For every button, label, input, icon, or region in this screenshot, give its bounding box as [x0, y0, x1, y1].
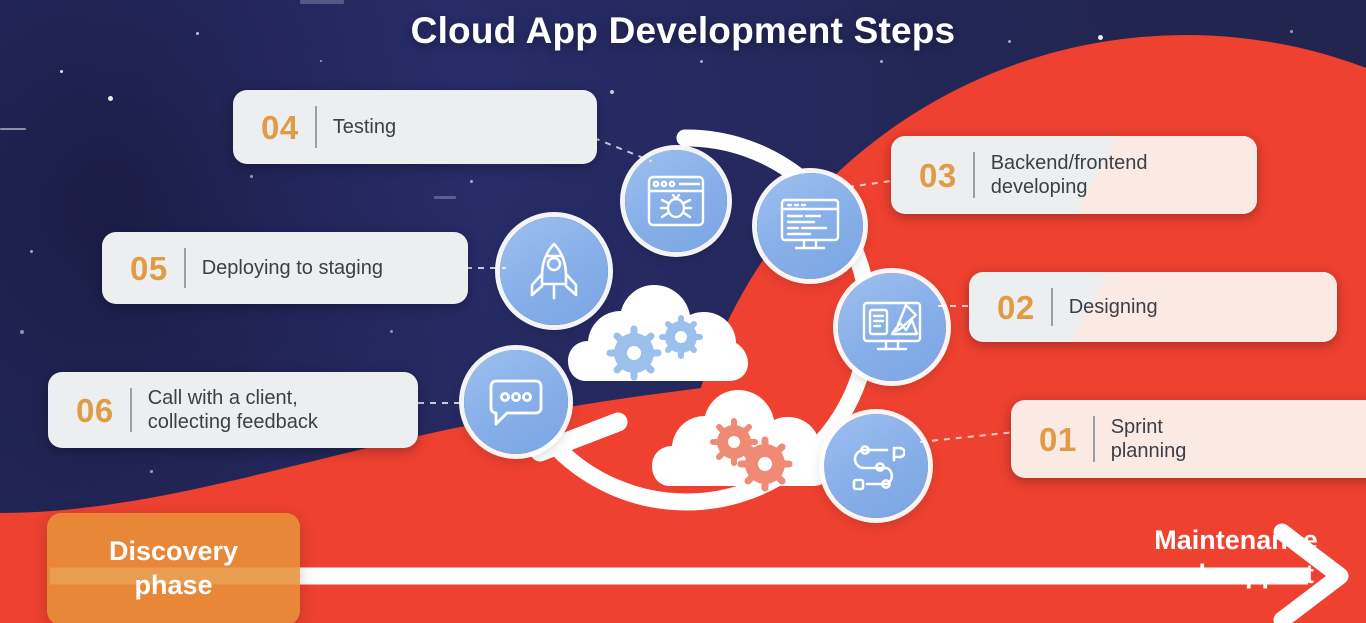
connector-05: [466, 267, 506, 269]
connector-06: [418, 402, 466, 404]
step-label-02: Designing: [1053, 295, 1178, 319]
step-label-06: Call with a client, collecting feedback: [132, 386, 338, 435]
node-rocket[interactable]: [500, 217, 608, 325]
step-label-03: Backend/frontend developing: [975, 151, 1168, 200]
node-developing[interactable]: [757, 173, 863, 279]
step-number-05: 05: [102, 252, 184, 285]
maintenance-support-label: Maintenance and support: [1106, 523, 1366, 592]
node-feedback[interactable]: [464, 350, 568, 454]
step-label-05: Deploying to staging: [186, 256, 403, 280]
step-number-01: 01: [1011, 423, 1093, 456]
chat-bubble-icon: [487, 377, 545, 427]
step-card-02[interactable]: 02 Designing: [969, 272, 1337, 342]
node-sprint-planning[interactable]: [824, 414, 928, 518]
code-monitor-icon: [780, 198, 840, 254]
cloud-with-coral-gears: [652, 390, 832, 492]
step-card-05[interactable]: 05 Deploying to staging: [102, 232, 468, 304]
step-number-02: 02: [969, 291, 1051, 324]
infographic-canvas: Cloud App Development Steps: [0, 0, 1366, 623]
roadmap-icon: [847, 440, 905, 492]
rocket-icon: [528, 242, 580, 300]
node-testing[interactable]: [625, 150, 727, 252]
step-label-01: Sprint planning: [1095, 415, 1207, 464]
discovery-phase-badge[interactable]: Discovery phase: [47, 513, 300, 623]
page-title: Cloud App Development Steps: [0, 10, 1366, 52]
step-number-03: 03: [891, 159, 973, 192]
node-designing[interactable]: [838, 273, 946, 381]
step-label-04: Testing: [317, 115, 416, 139]
browser-bug-icon: [647, 175, 705, 227]
step-number-04: 04: [233, 111, 315, 144]
step-card-04[interactable]: 04 Testing: [233, 90, 597, 164]
step-number-06: 06: [48, 394, 130, 427]
step-card-03[interactable]: 03 Backend/frontend developing: [891, 136, 1257, 214]
design-monitor-icon: [862, 299, 922, 355]
step-card-01[interactable]: 01 Sprint planning: [1011, 400, 1366, 478]
step-card-06[interactable]: 06 Call with a client, collecting feedba…: [48, 372, 418, 448]
